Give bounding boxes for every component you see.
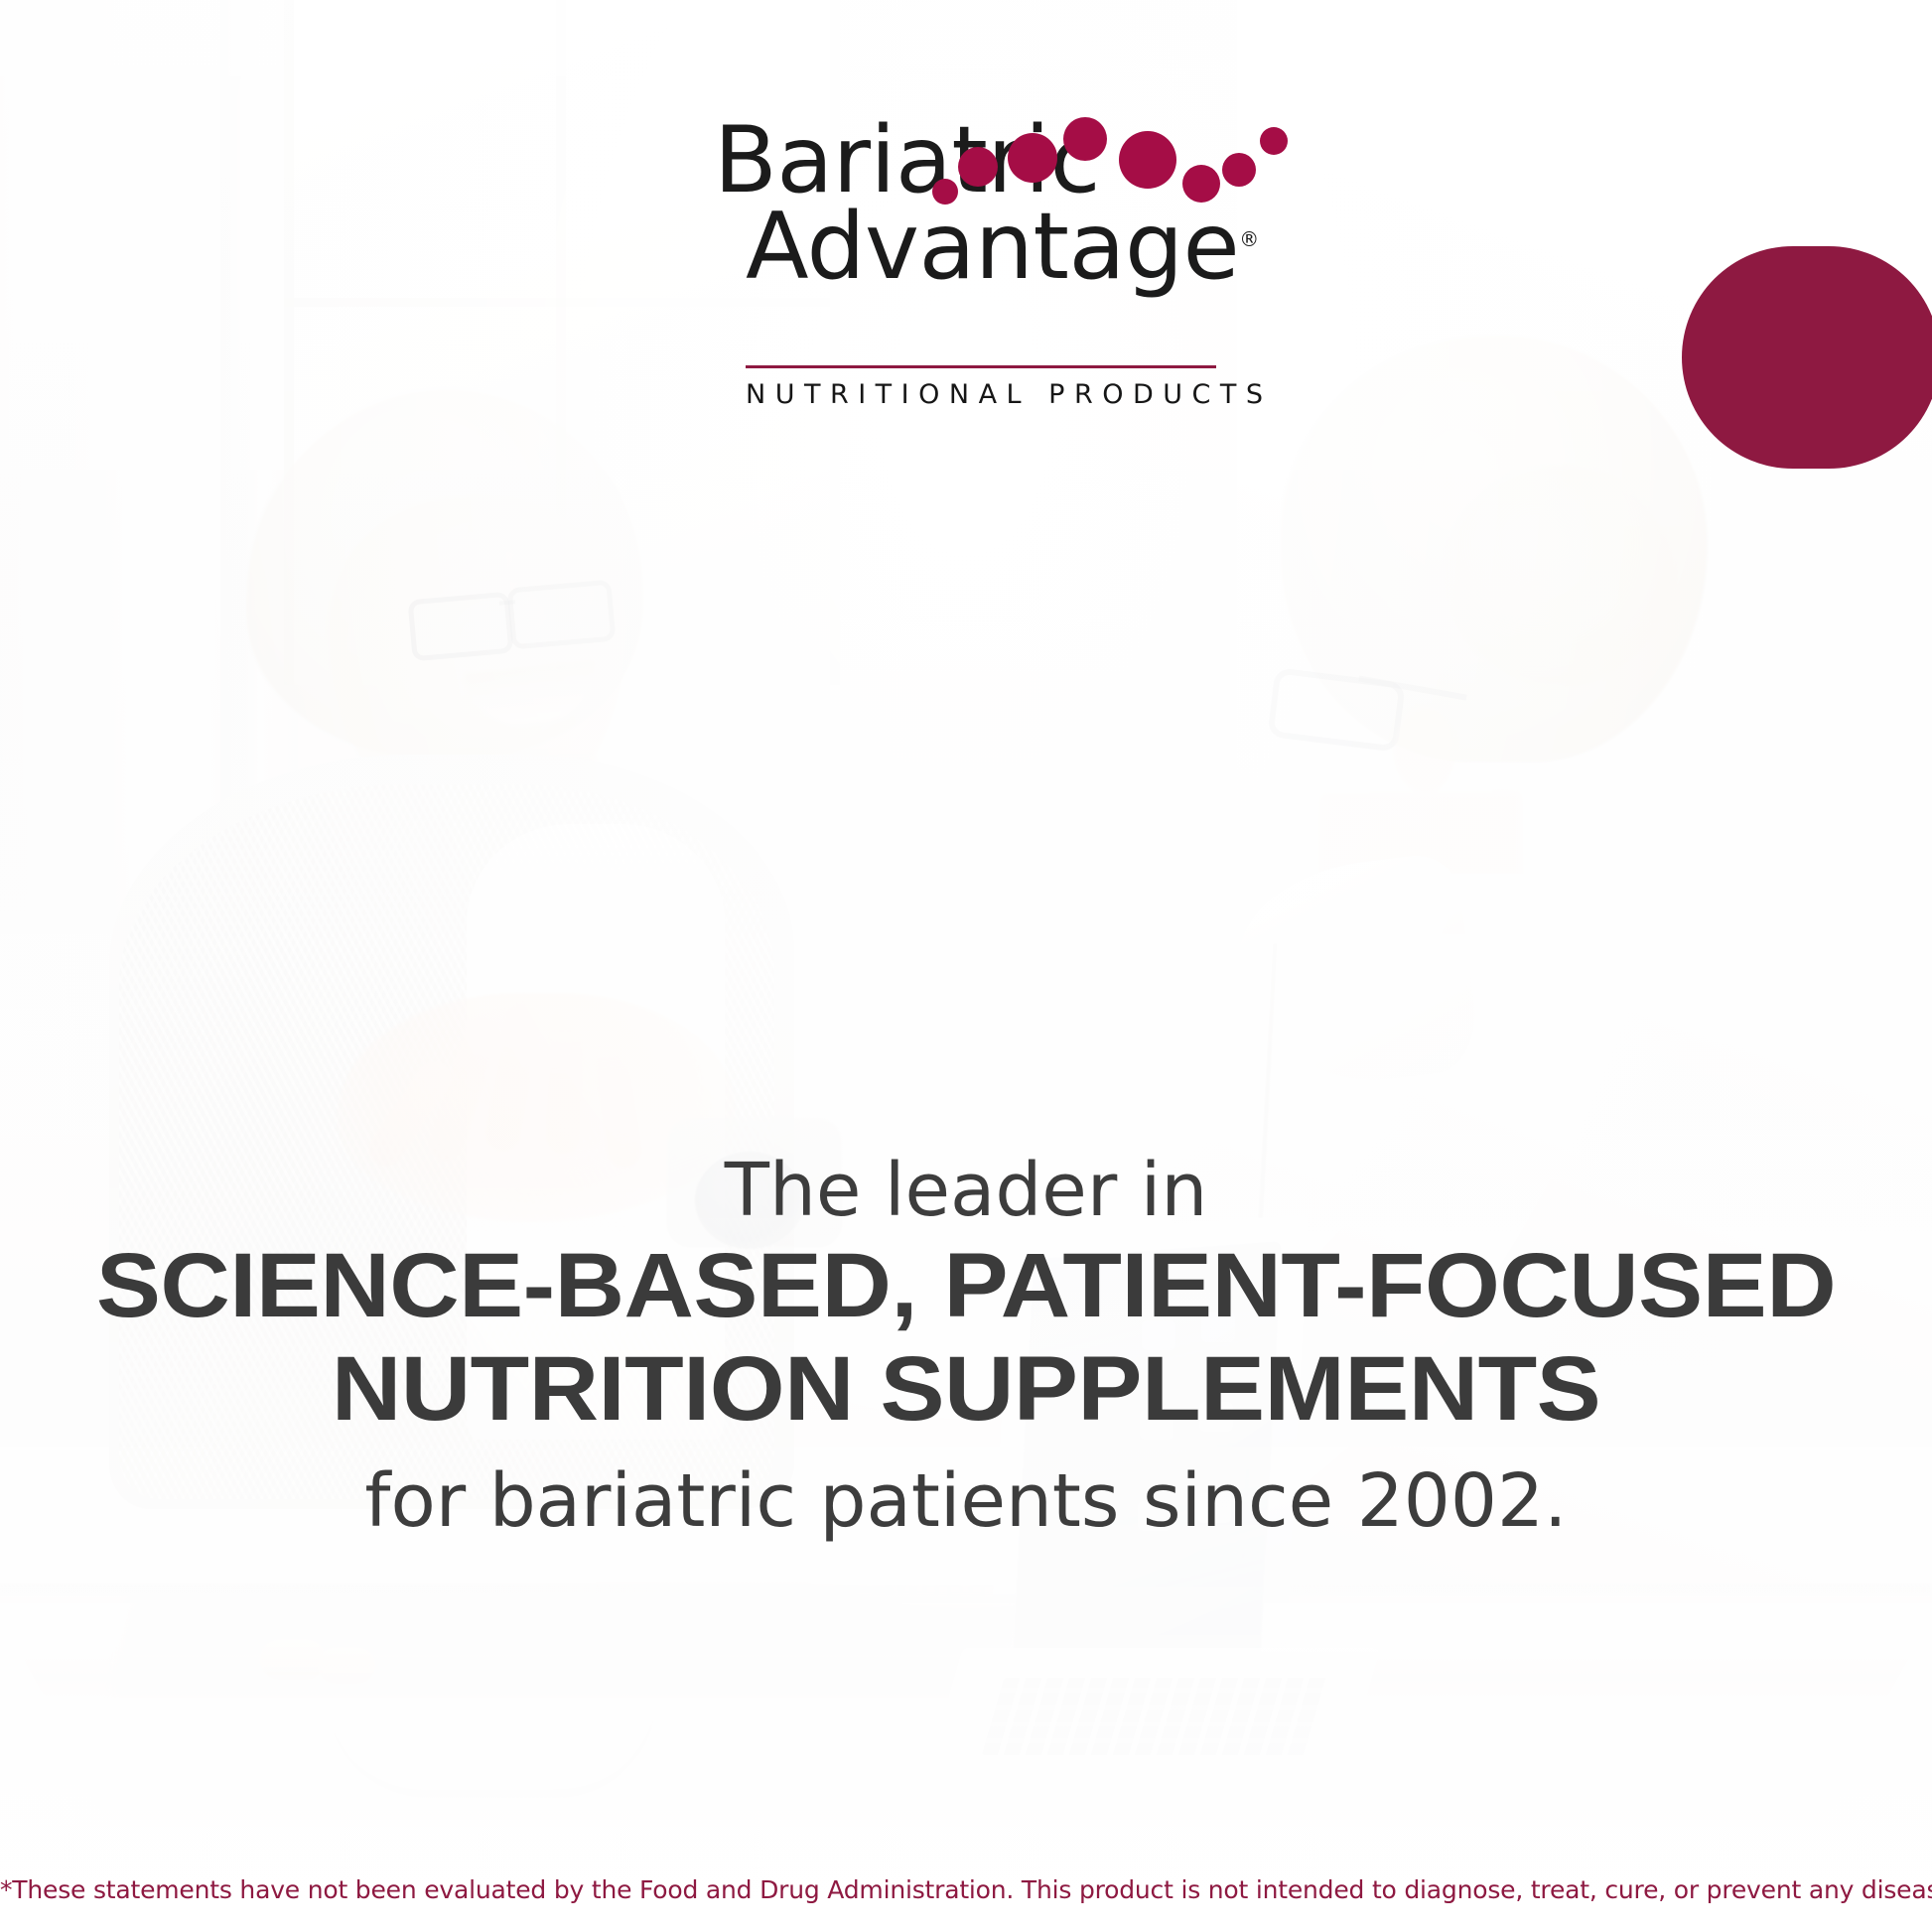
headline-main-line1: SCIENCE-BASED, PATIENT-FOCUSED: [96, 1235, 1836, 1336]
headline-tail: for bariatric patients since 2002.: [0, 1463, 1932, 1541]
brand-logo: Bariatric Advantage® NUTRITIONAL PRODUCT…: [0, 117, 1932, 291]
logo-dot-5: [1119, 131, 1176, 189]
logo-dot-7: [1222, 153, 1256, 187]
logo-dot-8: [1260, 127, 1288, 155]
headline-block: The leader in SCIENCE-BASED, PATIENT-FOC…: [0, 1152, 1932, 1541]
logo-divider-rule: [746, 365, 1216, 368]
logo-dot-2: [958, 147, 998, 187]
logo-dots-arc: [708, 117, 1224, 199]
fda-disclaimer: *These statements have not been evaluate…: [0, 1875, 1932, 1904]
registered-trademark-icon: ®: [1239, 227, 1259, 251]
logo-dot-3: [1008, 133, 1057, 183]
headline-lead: The leader in: [0, 1152, 1932, 1229]
logo-word-advantage: Advantage: [746, 193, 1239, 300]
brand-logo-inner: Bariatric Advantage® NUTRITIONAL PRODUCT…: [708, 117, 1224, 291]
ad-canvas: Bariatric Advantage® NUTRITIONAL PRODUCT…: [0, 0, 1932, 1932]
logo-dot-4: [1063, 117, 1107, 161]
headline-main: SCIENCE-BASED, PATIENT-FOCUSED NUTRITION…: [0, 1235, 1932, 1442]
headline-main-line2: NUTRITION SUPPLEMENTS: [0, 1338, 1932, 1442]
logo-subtitle: NUTRITIONAL PRODUCTS: [746, 379, 1216, 410]
logo-word-advantage-line: Advantage®: [708, 204, 1224, 290]
